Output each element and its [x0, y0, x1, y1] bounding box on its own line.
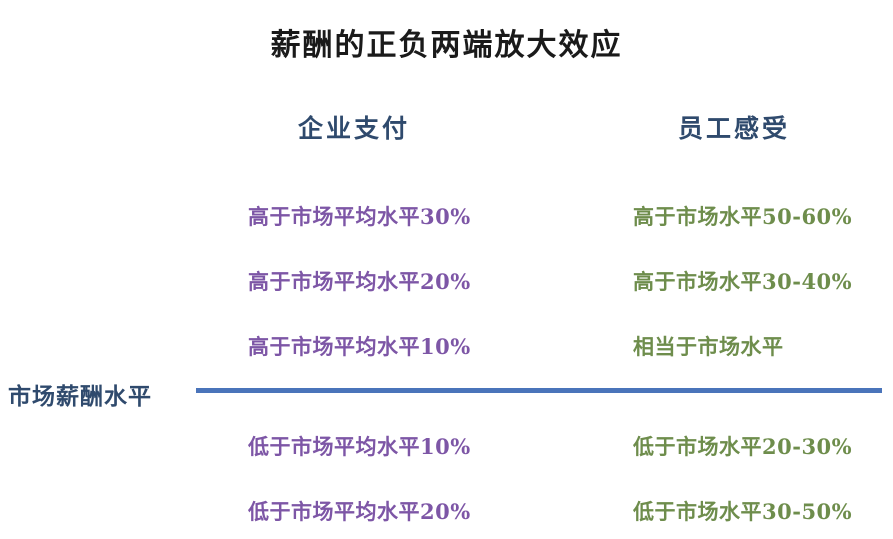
- rows-container: 高于市场平均水平30% 高于市场水平50-60% 高于市场平均水平20% 高于市…: [0, 0, 893, 539]
- table-row: 高于市场平均水平10% 相当于市场水平: [0, 331, 893, 361]
- slide-canvas: 薪酬的正负两端放大效应 企业支付 员工感受 高于市场平均水平30% 高于市场水平…: [0, 0, 893, 539]
- cell-employee-perception: 高于市场水平30-40%: [633, 266, 852, 296]
- table-row: 高于市场平均水平20% 高于市场水平30-40%: [0, 266, 893, 296]
- cell-employer-pay: 高于市场平均水平30%: [248, 201, 471, 231]
- table-row: 低于市场平均水平20% 低于市场水平30-50%: [0, 496, 893, 526]
- market-baseline-line: [196, 388, 882, 393]
- cell-employee-perception: 高于市场水平50-60%: [633, 201, 852, 231]
- table-row: 高于市场平均水平30% 高于市场水平50-60%: [0, 201, 893, 231]
- table-row: 低于市场平均水平10% 低于市场水平20-30%: [0, 431, 893, 461]
- market-baseline-label: 市场薪酬水平: [8, 377, 152, 411]
- cell-employee-perception: 低于市场水平20-30%: [633, 431, 852, 461]
- cell-employer-pay: 高于市场平均水平20%: [248, 266, 471, 296]
- cell-employee-perception: 低于市场水平30-50%: [633, 496, 852, 526]
- cell-employee-perception: 相当于市场水平: [633, 331, 784, 361]
- cell-employer-pay: 低于市场平均水平20%: [248, 496, 471, 526]
- cell-employer-pay: 高于市场平均水平10%: [248, 331, 471, 361]
- cell-employer-pay: 低于市场平均水平10%: [248, 431, 471, 461]
